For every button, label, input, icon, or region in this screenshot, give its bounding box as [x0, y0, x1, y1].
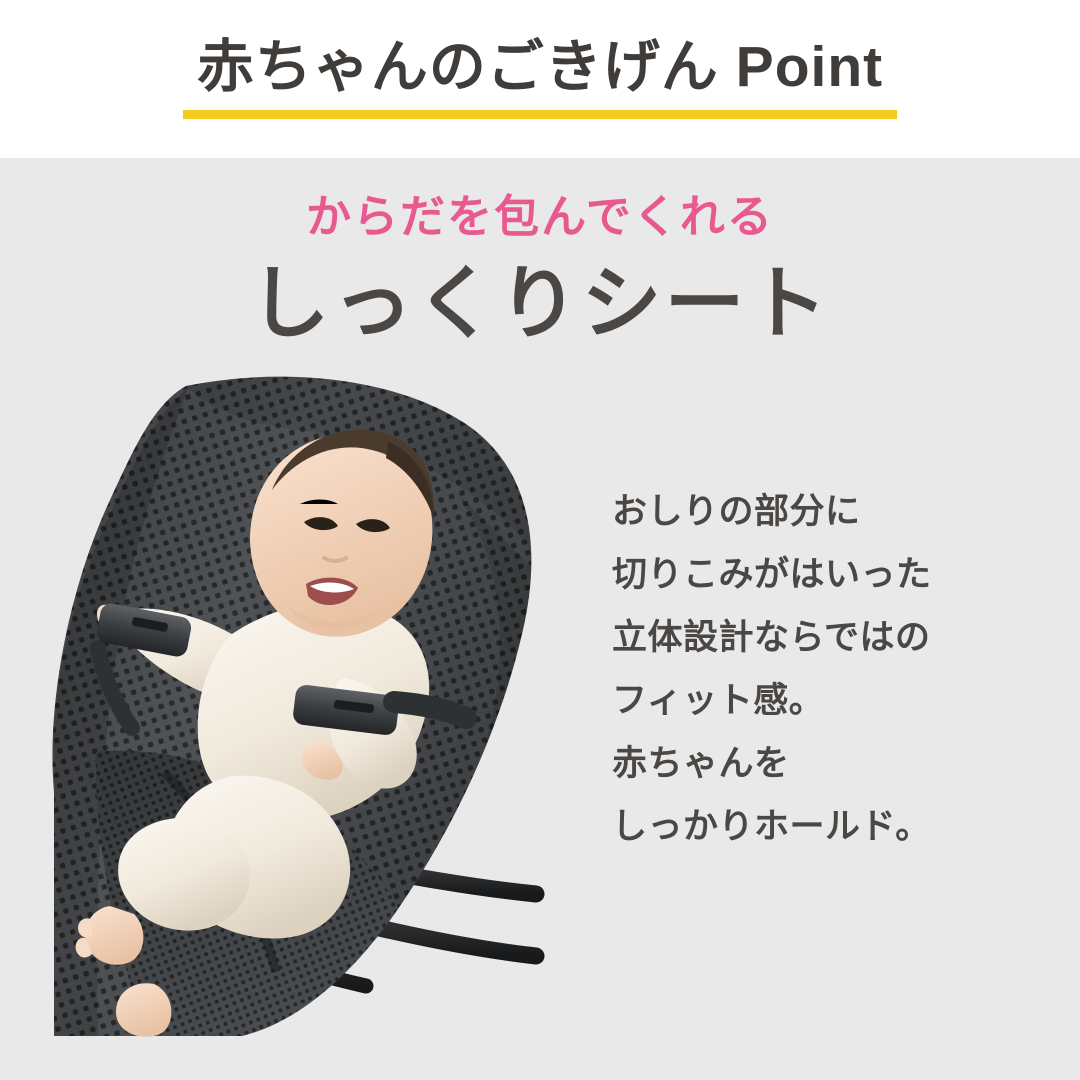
description-line: 立体設計ならではの [612, 606, 1032, 669]
description-line: おしりの部分に [612, 480, 1032, 543]
hero-heading: しっくりシート [0, 252, 1080, 356]
header-band: 赤ちゃんのごきげん Point [0, 0, 1080, 158]
description-line: 切りこみがはいった [612, 543, 1032, 606]
product-photo-baby-in-bouncer [36, 372, 576, 1040]
description-line: しっかりホールド。 [612, 795, 1032, 858]
hero-subtitle: からだを包んでくれる [0, 186, 1080, 248]
description-line: 赤ちゃんを [612, 732, 1032, 795]
title-underline-bar [183, 110, 897, 119]
description-line: フィット感。 [612, 669, 1032, 732]
description-block: おしりの部分に 切りこみがはいった 立体設計ならではの フィット感。 赤ちゃんを… [612, 480, 1032, 858]
marketing-panel: 赤ちゃんのごきげん Point からだを包んでくれる しっくりシート おしりの部… [0, 0, 1080, 1080]
page-title: 赤ちゃんのごきげん Point [0, 28, 1080, 106]
